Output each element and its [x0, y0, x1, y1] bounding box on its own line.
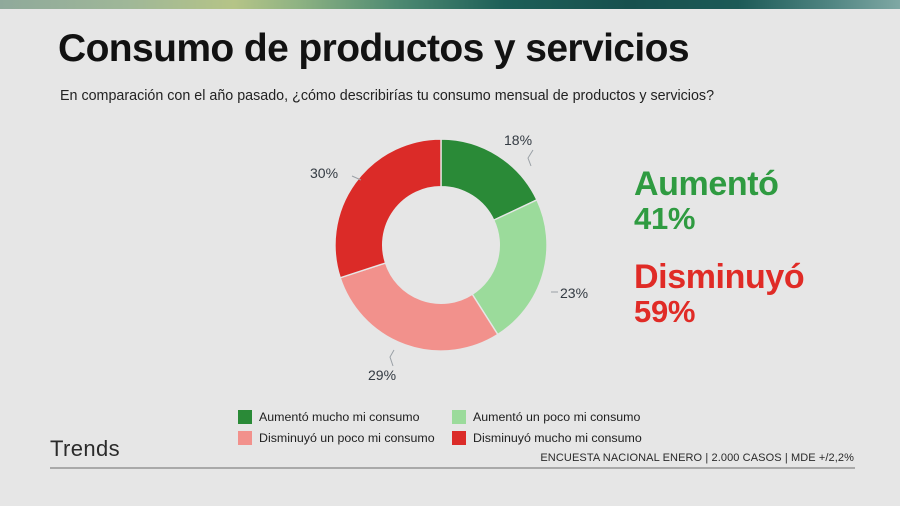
legend-item-label: Disminuyó un poco mi consumo: [259, 431, 435, 445]
top-accent-bar: [0, 0, 900, 9]
callout-increase: Aumentó 41%: [634, 166, 884, 237]
donut-chart: [330, 134, 552, 356]
slice-label-disminuyo-poco: 29%: [368, 367, 396, 383]
slice-label-disminuyo-mucho: 30%: [310, 165, 338, 181]
footer-divider: [50, 467, 855, 469]
donut-slice[interactable]: [335, 139, 441, 278]
brand-logo: Trends: [50, 436, 120, 462]
callout-decrease-value: 59%: [634, 295, 884, 330]
callout-increase-label: Aumentó: [634, 166, 884, 202]
legend-item-disminuyo-mucho[interactable]: Disminuyó mucho mi consumo: [452, 431, 678, 445]
slice-label-aumento-mucho: 18%: [504, 132, 532, 148]
summary-callout: Aumentó 41% Disminuyó 59%: [634, 166, 884, 342]
legend-swatch-icon: [238, 431, 252, 445]
page-subtitle: En comparación con el año pasado, ¿cómo …: [60, 88, 714, 104]
callout-decrease-label: Disminuyó: [634, 259, 884, 295]
donut-slice[interactable]: [340, 263, 498, 351]
legend-swatch-icon: [238, 410, 252, 424]
legend-item-label: Aumentó un poco mi consumo: [473, 410, 640, 424]
donut-chart-svg: [330, 134, 552, 356]
callout-decrease: Disminuyó 59%: [634, 259, 884, 330]
legend-swatch-icon: [452, 410, 466, 424]
legend-item-aumento-poco[interactable]: Aumentó un poco mi consumo: [452, 410, 678, 424]
legend-item-disminuyo-poco[interactable]: Disminuyó un poco mi consumo: [238, 431, 452, 445]
donut-slice-group: [335, 139, 547, 351]
legend-item-aumento-mucho[interactable]: Aumentó mucho mi consumo: [238, 410, 452, 424]
survey-source-note: ENCUESTA NACIONAL ENERO | 2.000 CASOS | …: [540, 452, 854, 464]
legend-swatch-icon: [452, 431, 466, 445]
callout-increase-value: 41%: [634, 202, 884, 237]
chart-legend: Aumentó mucho mi consumo Aumentó un poco…: [238, 410, 678, 445]
page-title: Consumo de productos y servicios: [58, 27, 689, 71]
legend-item-label: Aumentó mucho mi consumo: [259, 410, 419, 424]
legend-item-label: Disminuyó mucho mi consumo: [473, 431, 642, 445]
slice-label-aumento-poco: 23%: [560, 285, 588, 301]
